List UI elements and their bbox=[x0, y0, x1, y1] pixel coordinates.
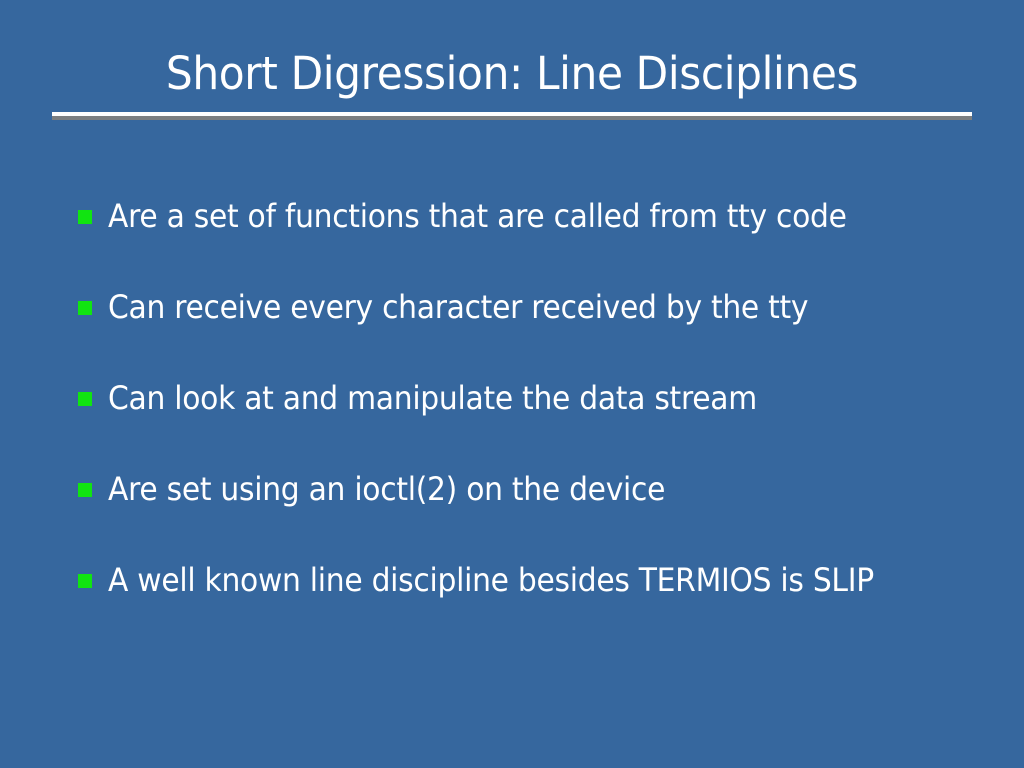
list-item: A well known line discipline besides TER… bbox=[78, 534, 978, 625]
slide-title-block: Short Digression: Line Disciplines bbox=[0, 46, 1024, 102]
page-title: Short Digression: Line Disciplines bbox=[31, 46, 994, 102]
list-item: Are a set of functions that are called f… bbox=[78, 170, 978, 261]
list-item: Can receive every character received by … bbox=[78, 261, 978, 352]
divider-shadow-line bbox=[52, 116, 972, 120]
bullet-list: Are a set of functions that are called f… bbox=[78, 170, 978, 625]
bullet-item-label: Are a set of functions that are called f… bbox=[108, 197, 917, 235]
title-divider-rule bbox=[52, 112, 972, 120]
list-item: Are set using an ioctl(2) on the device bbox=[78, 443, 978, 534]
presentation-slide: Short Digression: Line Disciplines Are a… bbox=[0, 0, 1024, 768]
bullet-item-label: Can look at and manipulate the data stre… bbox=[108, 379, 917, 417]
square-bullet-icon bbox=[78, 392, 92, 406]
square-bullet-icon bbox=[78, 210, 92, 224]
bullet-item-label: A well known line discipline besides TER… bbox=[108, 561, 917, 599]
square-bullet-icon bbox=[78, 301, 92, 315]
bullet-item-label: Are set using an ioctl(2) on the device bbox=[108, 470, 917, 508]
square-bullet-icon bbox=[78, 574, 92, 588]
bullet-item-label: Can receive every character received by … bbox=[108, 288, 917, 326]
list-item: Can look at and manipulate the data stre… bbox=[78, 352, 978, 443]
square-bullet-icon bbox=[78, 483, 92, 497]
